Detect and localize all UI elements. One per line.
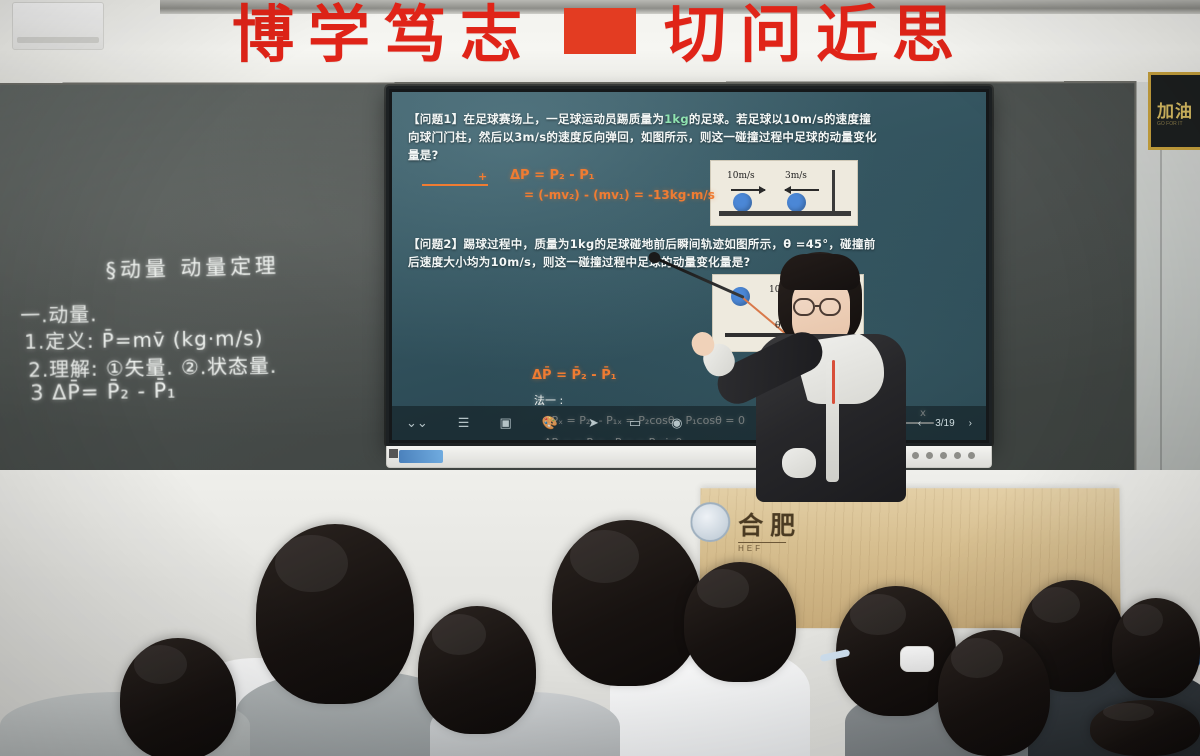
student-head-center: [552, 520, 702, 686]
volume-up-button[interactable]: [940, 452, 947, 459]
face-mask: [900, 646, 934, 672]
banner-word-right: 切问近思: [664, 0, 968, 64]
eraser-icon[interactable]: ▭: [629, 415, 641, 431]
figure-1-ground: [719, 211, 851, 216]
motivational-plaque: 加油 GO FOR IT: [1148, 72, 1200, 150]
question-1-highlight: 1kg: [664, 112, 689, 126]
banner-word-left: 博学笃志: [232, 0, 536, 64]
question-2-label: 【问题2】: [408, 237, 464, 251]
glasses-bridge: [815, 305, 821, 307]
next-slide-button[interactable]: ›: [969, 418, 972, 429]
menu-button[interactable]: [954, 452, 961, 459]
figure-1-ball-after: [787, 193, 806, 212]
plaque-text: 加油: [1157, 97, 1193, 122]
bezel-indicator-icon: [389, 449, 398, 458]
student-head-l3: [120, 638, 236, 756]
figure-1-speed-out: 3m/s: [785, 171, 807, 181]
figure-1-ball-before: [733, 193, 752, 212]
classroom-wall: 博学笃志 切问近思: [0, 0, 1200, 90]
slide-page-indicator: 3/19: [935, 418, 954, 429]
annotation-q2-heading: ΔP̄ = P̄₂ - P̄₁: [532, 368, 616, 383]
door-edge: [1160, 150, 1162, 470]
student-head-l2: [418, 606, 536, 734]
classroom-photo: 博学笃志 切问近思 §动量 动量定理 一.动量. 1.定义: P̄=mv̄ (k…: [0, 0, 1200, 756]
slide-pager[interactable]: ‹ 3/19 ›: [918, 418, 972, 429]
brand-chip: [399, 450, 443, 463]
figure-1-arrow-left-icon: [785, 189, 819, 191]
annotation-axis-line: [422, 184, 488, 186]
board-line-3: 2.理解: ①矢量. ②.状态量.: [28, 350, 277, 383]
figure-1-arrow-right-icon: [731, 189, 765, 191]
cursor-icon[interactable]: ➤: [588, 415, 599, 431]
figure-1-ball-rebound: 10m/s 3m/s: [710, 160, 858, 226]
student-head-r4: [938, 630, 1050, 756]
collapse-icon[interactable]: ⌄⌄: [406, 415, 428, 431]
annotation-q1-line-2: = (-mv₂) - (mv₁) = -13kg·m/s: [524, 188, 715, 202]
plaque-subtext: GO FOR IT: [1157, 121, 1183, 127]
lanyard: [832, 360, 835, 404]
student-head-r5: [1090, 700, 1200, 756]
board-line-4: 3 ΔP̄= P̄₂ - P̄₁: [30, 378, 177, 404]
teacher: [740, 252, 920, 502]
home-button[interactable]: [968, 452, 975, 459]
question-1-body-a: 在足球赛场上，一足球运动员踢质量为: [464, 112, 665, 126]
slide-icon[interactable]: ▣: [499, 415, 511, 431]
wall-banner: 博学笃志 切问近思: [0, 0, 1200, 64]
annotation-plus-sign: +: [478, 170, 487, 183]
glasses-right-lens-icon: [819, 298, 841, 316]
question-1-label: 【问题1】: [408, 112, 464, 126]
teacher-fringe: [780, 254, 860, 290]
student-head-r2: [1112, 598, 1200, 698]
figure-1-goalpost: [832, 170, 835, 216]
laser-icon[interactable]: ◉: [671, 415, 682, 431]
board-heading: §动量 动量定理: [105, 250, 280, 285]
figure-1-speed-in: 10m/s: [727, 171, 755, 181]
menu-icon[interactable]: ☰: [458, 415, 470, 431]
student-head-c2: [684, 562, 796, 682]
annotation-q1-line-1: ΔP = P₂ - P₁: [510, 168, 594, 183]
student-audience: [0, 470, 1200, 756]
volume-down-button[interactable]: [926, 452, 933, 459]
banner-block: [564, 8, 636, 54]
student-head-left-front: [256, 524, 414, 704]
glasses-left-lens-icon: [793, 298, 815, 316]
palette-icon[interactable]: 🎨: [542, 415, 558, 431]
question-1-block: 【问题1】在足球赛场上，一足球运动员踢质量为1kg的足球。若足球以10m/s的速…: [408, 110, 878, 164]
